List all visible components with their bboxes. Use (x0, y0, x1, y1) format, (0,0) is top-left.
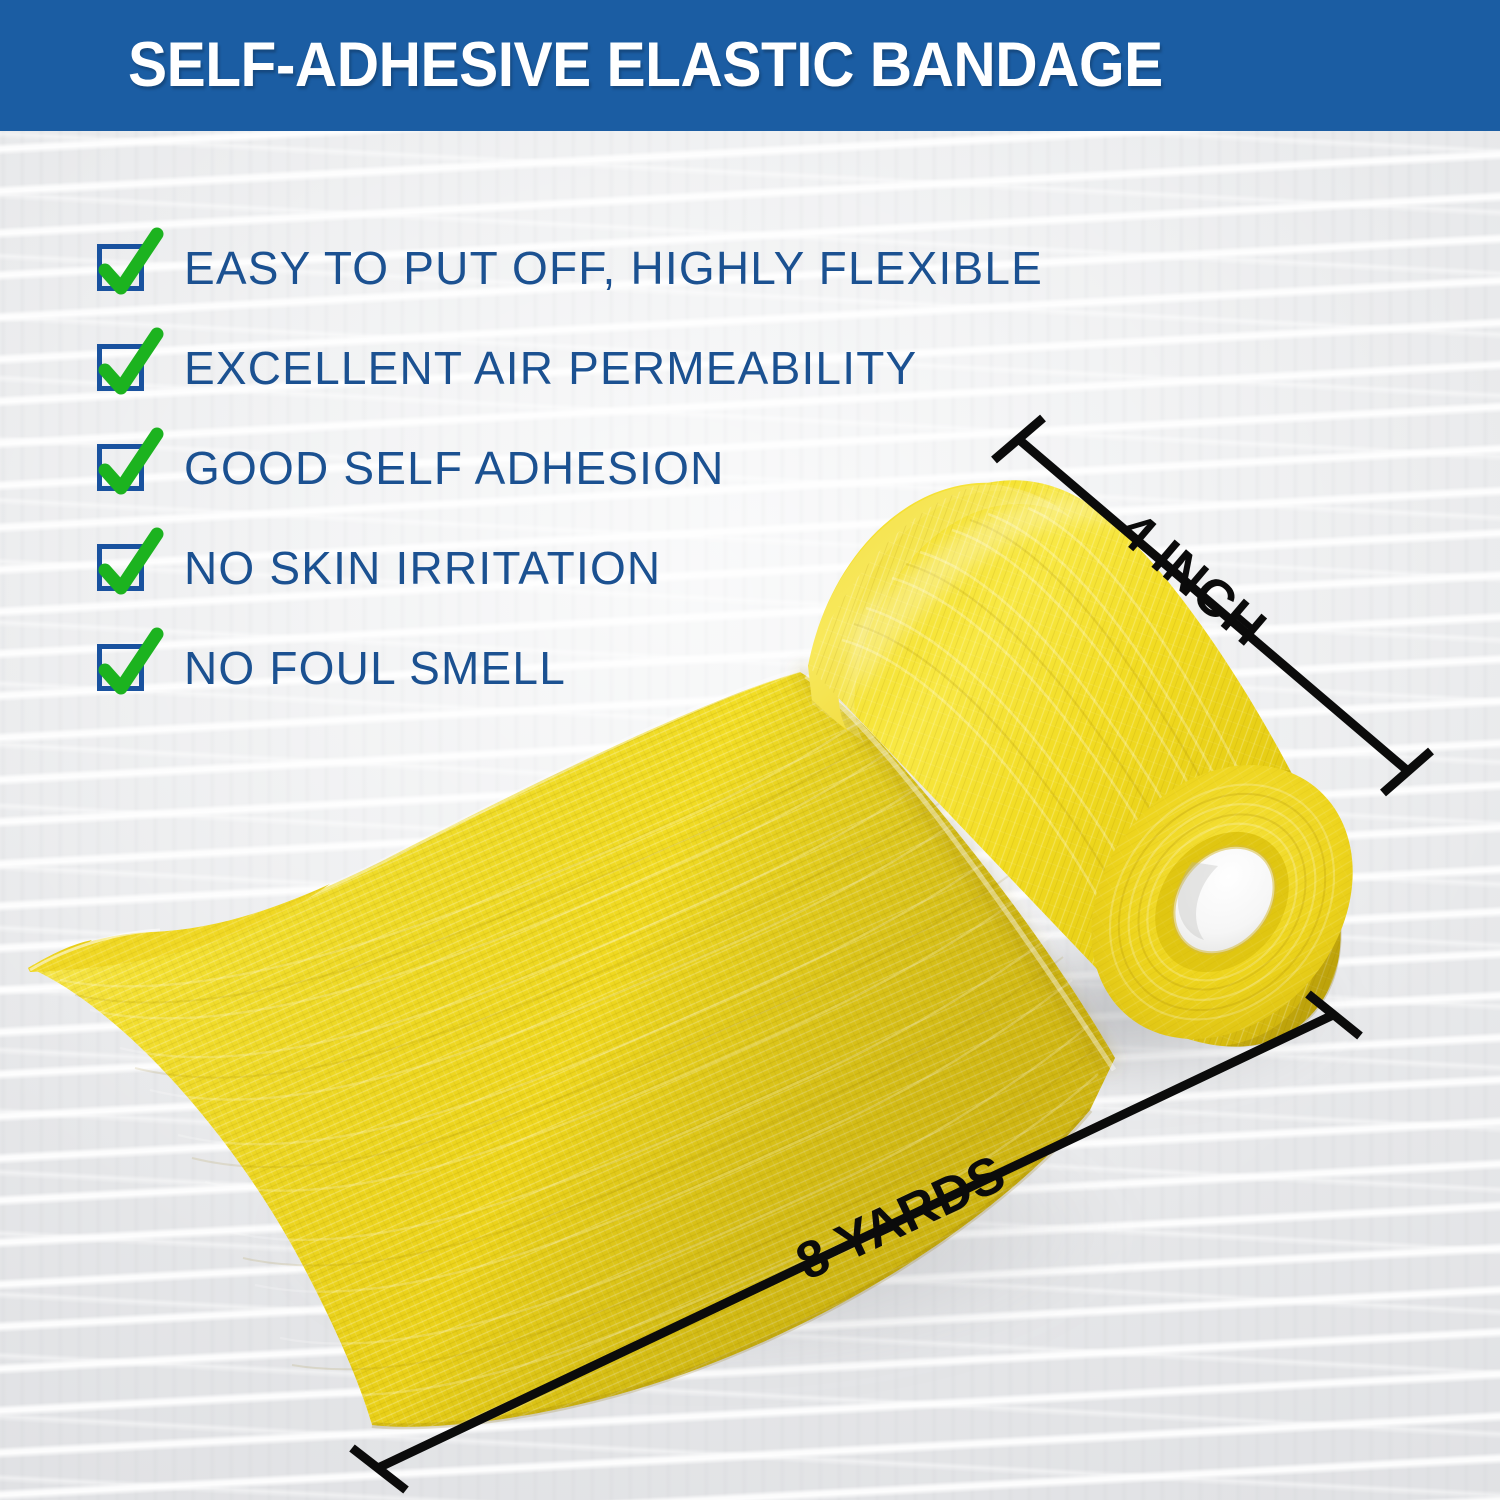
feature-label: GOOD SELF ADHESION (184, 445, 725, 491)
header-banner: SELF-ADHESIVE ELASTIC BANDAGE (0, 0, 1500, 131)
page-title: SELF-ADHESIVE ELASTIC BANDAGE (128, 34, 1163, 97)
feature-label: NO SKIN IRRITATION (184, 545, 661, 591)
checkbox-checked-icon (97, 344, 144, 391)
feature-label: EASY TO PUT OFF, HIGHLY FLEXIBLE (184, 245, 1043, 291)
checkbox-checked-icon (97, 444, 144, 491)
feature-item: GOOD SELF ADHESION (97, 436, 1043, 498)
checkbox-checked-icon (97, 544, 144, 591)
feature-item: NO SKIN IRRITATION (97, 536, 1043, 598)
feature-label: EXCELLENT AIR PERMEABILITY (184, 345, 917, 391)
bandage-illustration (0, 0, 1500, 1500)
feature-list: EASY TO PUT OFF, HIGHLY FLEXIBLE EXCELLE… (97, 236, 1043, 736)
checkbox-checked-icon (97, 644, 144, 691)
feature-label: NO FOUL SMELL (184, 645, 566, 691)
checkbox-checked-icon (97, 244, 144, 291)
feature-item: NO FOUL SMELL (97, 636, 1043, 698)
feature-item: EASY TO PUT OFF, HIGHLY FLEXIBLE (97, 236, 1043, 298)
feature-item: EXCELLENT AIR PERMEABILITY (97, 336, 1043, 398)
product-infographic: 4 INCH 8 YARDS SELF-ADHESIVE ELASTIC BAN… (0, 0, 1500, 1500)
